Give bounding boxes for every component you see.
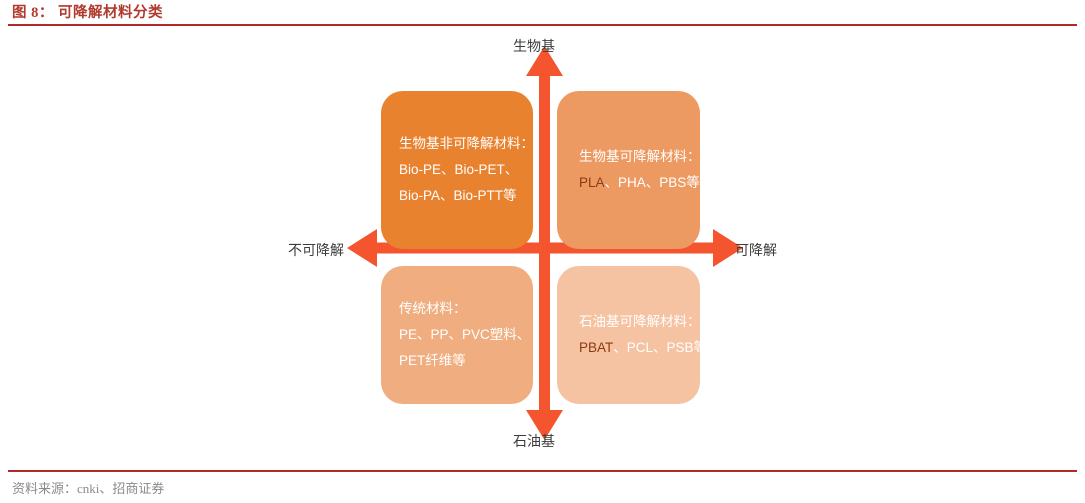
source-note: 资料来源：cnki、招商证券 bbox=[12, 478, 164, 497]
quadrant-line: PET纤维等 bbox=[381, 348, 533, 374]
quadrant-box-bottom-left[interactable]: 传统材料： PE、PP、PVC塑料、 PET纤维等 bbox=[381, 266, 533, 404]
quadrant-line-rest: 、PCL、PSB等 bbox=[613, 340, 707, 355]
quadrant-line: 石油基可降解材料： bbox=[557, 309, 700, 335]
footer-divider bbox=[8, 470, 1077, 472]
header-divider bbox=[8, 24, 1077, 26]
page-title: 图 8： 可降解材料分类 bbox=[12, 1, 163, 22]
quadrant-box-top-right[interactable]: 生物基可降解材料： PLA、PHA、PBS等 bbox=[557, 91, 700, 249]
quadrant-line: PLA、PHA、PBS等 bbox=[557, 170, 700, 196]
quadrant-box-top-left[interactable]: 生物基非可降解材料： Bio-PE、Bio-PET、 Bio-PA、Bio-PT… bbox=[381, 91, 533, 249]
axis-label-left: 不可降解 bbox=[288, 240, 344, 260]
highlight-term: PLA bbox=[579, 175, 605, 190]
quadrant-line: 生物基可降解材料： bbox=[557, 144, 700, 170]
quadrant-line: Bio-PA、Bio-PTT等 bbox=[381, 183, 533, 209]
quadrant-line-rest: 、PHA、PBS等 bbox=[605, 175, 700, 190]
quadrant-line: 生物基非可降解材料： bbox=[381, 131, 533, 157]
figure-header: 图 8： 可降解材料分类 bbox=[0, 0, 1085, 28]
quadrant-line: Bio-PE、Bio-PET、 bbox=[381, 157, 533, 183]
quadrant-diagram: 生物基非可降解材料： Bio-PE、Bio-PET、 Bio-PA、Bio-PT… bbox=[0, 28, 1085, 468]
axis-layer bbox=[0, 28, 1085, 468]
axis-label-right: 可降解 bbox=[735, 240, 777, 260]
highlight-term: PBAT bbox=[579, 340, 613, 355]
axis-label-top: 生物基 bbox=[513, 36, 555, 56]
axis-label-bottom: 石油基 bbox=[513, 431, 555, 451]
quadrant-line: PBAT、PCL、PSB等 bbox=[557, 335, 700, 361]
quadrant-line: PE、PP、PVC塑料、 bbox=[381, 322, 533, 348]
quadrant-line: 传统材料： bbox=[381, 296, 533, 322]
quadrant-box-bottom-right[interactable]: 石油基可降解材料： PBAT、PCL、PSB等 bbox=[557, 266, 700, 404]
